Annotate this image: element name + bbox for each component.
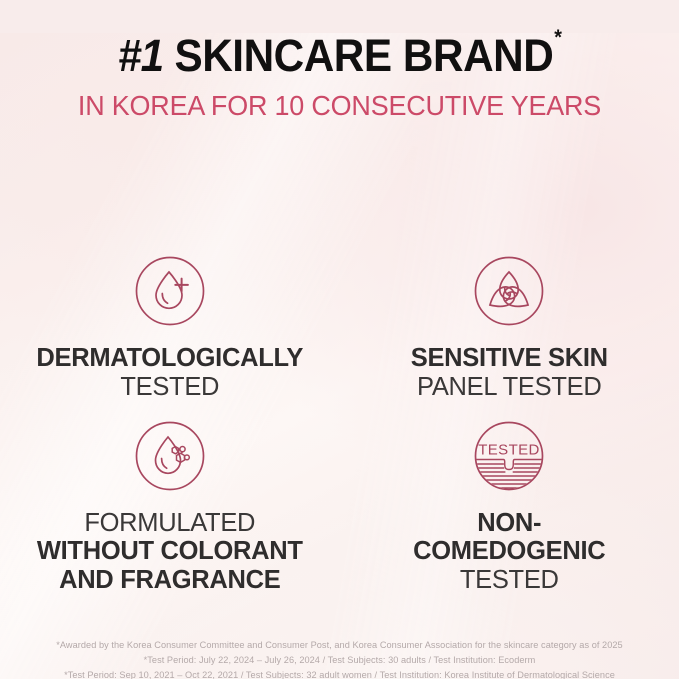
feature-label-regular: PANEL TESTED bbox=[411, 373, 608, 402]
promo-banner: #1 SKINCARE BRAND* IN KOREA FOR 10 CONSE… bbox=[0, 33, 679, 679]
feature-label-regular-top: FORMULATED bbox=[37, 509, 303, 538]
feature-grid: DERMATOLOGICALLY TESTED bbox=[0, 245, 679, 595]
feature-label-bold-2: COMEDOGENIC bbox=[413, 537, 605, 566]
feature-item-formulated-without-colorant-and-fragrance: FORMULATED WITHOUT COLORANT AND FRAGRANC… bbox=[0, 410, 340, 595]
feature-item-non-comedogenic-tested: TESTED NON- COMEDOGENIC TESTED bbox=[340, 410, 679, 595]
feature-label-bold: WITHOUT COLORANT bbox=[37, 537, 303, 566]
feature-label-regular: TESTED bbox=[413, 566, 605, 595]
footnote-line-3: *Test Period: Sep 10, 2021 – Oct 22, 202… bbox=[0, 668, 679, 679]
feature-item-sensitive-skin-panel-tested: SENSITIVE SKIN PANEL TESTED bbox=[340, 245, 679, 402]
trefoil-leaf-icon bbox=[463, 245, 555, 337]
droplet-plus-icon bbox=[124, 245, 216, 337]
page-title: #1 SKINCARE BRAND* bbox=[20, 33, 658, 78]
headline-text: SKINCARE BRAND bbox=[174, 30, 553, 81]
feature-label-bold-2: AND FRAGRANCE bbox=[37, 566, 303, 595]
tested-stamp-label: TESTED bbox=[478, 441, 540, 458]
feature-label: NON- COMEDOGENIC TESTED bbox=[413, 509, 605, 595]
footnote-line-2: *Test Period: July 22, 2024 – July 26, 2… bbox=[0, 653, 679, 668]
feature-label-bold: NON- bbox=[413, 509, 605, 538]
feature-label: DERMATOLOGICALLY TESTED bbox=[36, 344, 303, 402]
tested-skin-stamp-icon: TESTED bbox=[463, 410, 555, 502]
footnote-block: *Awarded by the Korea Consumer Committee… bbox=[0, 638, 679, 679]
footnote-line-1: *Awarded by the Korea Consumer Committee… bbox=[0, 638, 679, 653]
droplet-molecule-icon bbox=[124, 410, 216, 502]
page-subtitle: IN KOREA FOR 10 CONSECUTIVE YEARS bbox=[7, 92, 672, 120]
feature-label-bold: DERMATOLOGICALLY bbox=[36, 344, 303, 373]
feature-label: FORMULATED WITHOUT COLORANT AND FRAGRANC… bbox=[37, 509, 303, 595]
headline-asterisk: * bbox=[554, 26, 562, 49]
feature-label-regular: TESTED bbox=[36, 373, 303, 402]
feature-item-dermatologically-tested: DERMATOLOGICALLY TESTED bbox=[0, 245, 340, 402]
feature-label: SENSITIVE SKIN PANEL TESTED bbox=[411, 344, 608, 402]
headline-rank: #1 bbox=[118, 30, 163, 81]
feature-label-bold: SENSITIVE SKIN bbox=[411, 344, 608, 373]
